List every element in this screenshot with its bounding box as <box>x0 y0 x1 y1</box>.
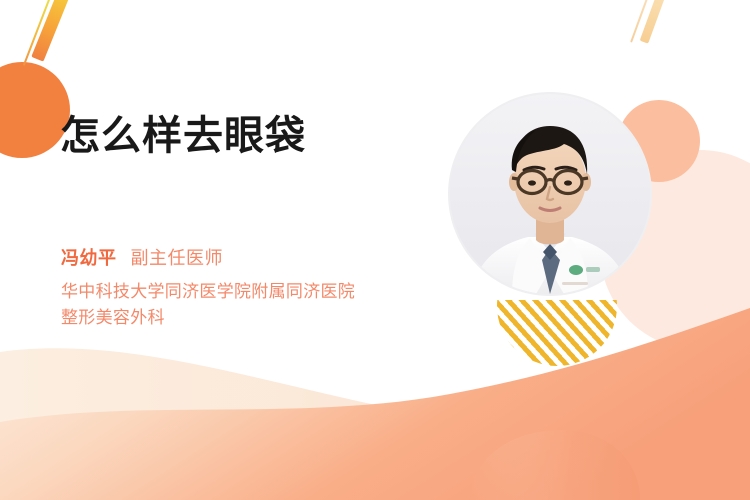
doctor-hospital: 华中科技大学同济医学院附属同济医院 整形美容外科 <box>61 279 355 330</box>
page-title: 怎么样去眼袋 <box>60 112 306 160</box>
doctor-portrait-photo <box>450 94 650 294</box>
doctor-hospital-line-1: 华中科技大学同济医学院附属同济医院 <box>61 279 355 305</box>
doctor-job-title: 副主任医师 <box>131 246 224 270</box>
doctor-name-row: 冯幼平 副主任医师 <box>61 246 355 270</box>
thin-diagonal-streak-icon <box>23 0 51 66</box>
doctor-meta-block: 冯幼平 副主任医师 华中科技大学同济医学院附属同济医院 整形美容外科 <box>61 246 355 330</box>
thick-diagonal-streak-right-icon <box>640 0 670 44</box>
thin-diagonal-streak-right-icon <box>630 0 652 43</box>
doctor-name: 冯幼平 <box>61 246 117 270</box>
doctor-hospital-line-2: 整形美容外科 <box>61 305 355 331</box>
doctor-info-card: 怎么样去眼袋 冯幼平 副主任医师 华中科技大学同济医学院附属同济医院 整形美容外… <box>0 0 750 500</box>
thick-diagonal-streak-icon <box>31 0 72 62</box>
